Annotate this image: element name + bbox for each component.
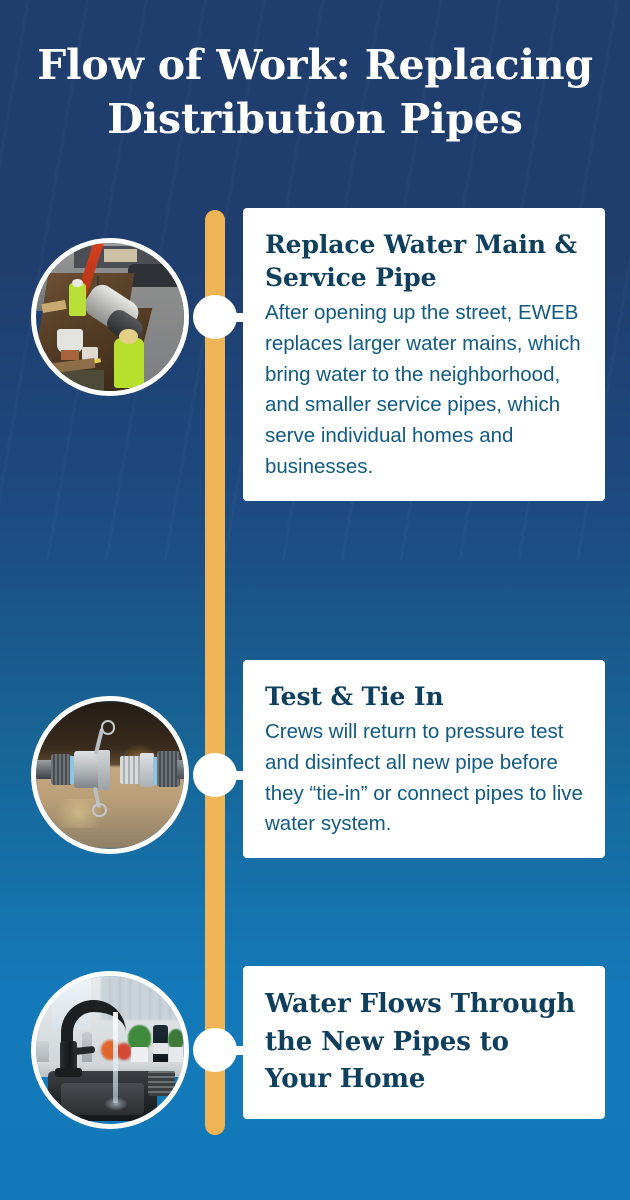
step-1-photo: [31, 238, 189, 396]
step-2-card: Test & Tie In Crews will return to press…: [243, 660, 605, 858]
step-3-heading: Water Flows Through the New Pipes to You…: [265, 986, 583, 1099]
timeline-spine: [205, 210, 225, 1135]
timeline-node-1: [193, 295, 237, 339]
step-1-body: After opening up the street, EWEB replac…: [265, 298, 583, 483]
timeline-node-3: [193, 1028, 237, 1072]
step-1-heading: Replace Water Main & Service Pipe: [265, 228, 583, 294]
step-2-heading: Test & Tie In: [265, 680, 583, 713]
kitchen-faucet-running-water-illustration: [36, 976, 184, 1124]
step-3-photo: [31, 971, 189, 1129]
title-block: Flow of Work: Replacing Distribution Pip…: [0, 38, 630, 146]
step-3-card: Water Flows Through the New Pipes to You…: [243, 966, 605, 1119]
page-title: Flow of Work: Replacing Distribution Pip…: [14, 38, 616, 146]
crew-installing-water-main-in-trench-illustration: [36, 243, 184, 391]
step-2-photo: [31, 696, 189, 854]
infographic-flow-of-work: Flow of Work: Replacing Distribution Pip…: [0, 0, 630, 1200]
pipe-coupling-connection-illustration: [36, 701, 184, 849]
step-2-body: Crews will return to pressure test and d…: [265, 717, 583, 840]
timeline-node-2: [193, 753, 237, 797]
step-1-card: Replace Water Main & Service Pipe After …: [243, 208, 605, 501]
